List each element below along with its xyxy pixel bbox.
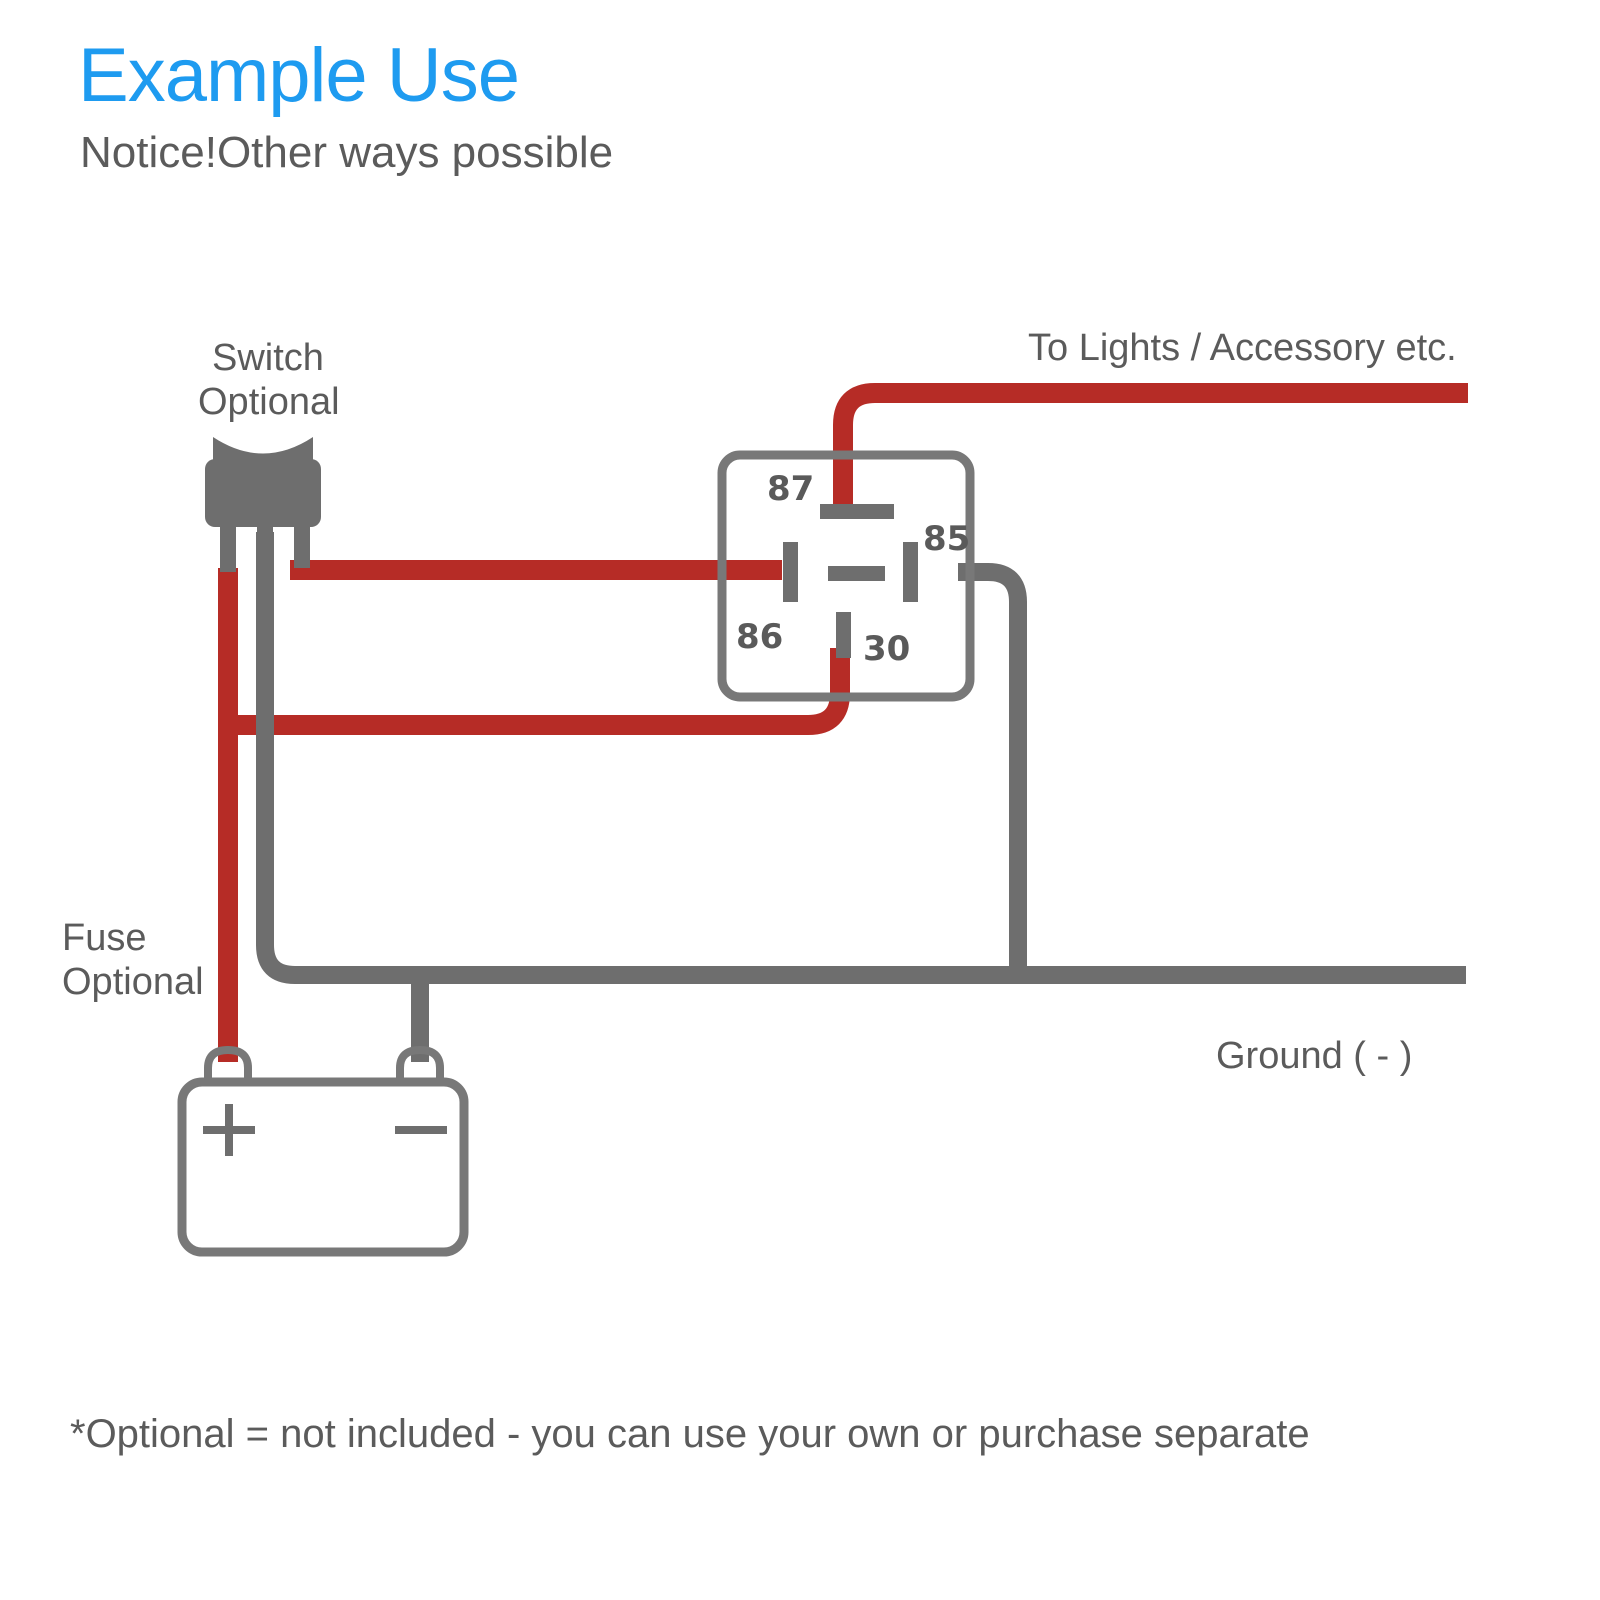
footnote-text: *Optional = not included - you can use y… <box>70 1412 1310 1457</box>
battery-minus-symbol <box>395 1126 447 1134</box>
relay-pin-label-85: 85 <box>923 519 970 559</box>
red-wire-group <box>228 393 1468 1062</box>
switch-label-line1: Switch <box>212 337 324 379</box>
ground-label: Ground ( - ) <box>1216 1035 1412 1077</box>
rocker-switch[interactable] <box>205 437 321 527</box>
lights-label: To Lights / Accessory etc. <box>1028 327 1457 369</box>
gray-wire-group <box>265 532 1466 1062</box>
battery[interactable] <box>182 1050 464 1252</box>
relay-contact-86 <box>783 542 798 602</box>
relay-contact-center <box>828 566 885 581</box>
wire-switch-center-to-ground <box>265 532 1466 975</box>
relay-wiring-diagram: 87 85 86 30 Switch Optional Fuse Optiona… <box>0 0 1600 1600</box>
relay-pin-label-30: 30 <box>863 629 910 669</box>
wire-battery-pos-to-relay-30 <box>228 648 840 725</box>
relay-contact-30 <box>836 612 851 658</box>
relay-contact-87 <box>820 504 894 519</box>
relay-contact-85 <box>903 542 918 602</box>
battery-case <box>182 1082 464 1252</box>
relay-pin-label-87: 87 <box>767 469 814 509</box>
switch-label-line2: Optional <box>198 381 340 423</box>
switch-body <box>205 459 321 527</box>
wiring-diagram-page: Example Use Notice!Other ways possible <box>0 0 1600 1600</box>
fuse-label-line2: Optional <box>62 961 204 1003</box>
fuse-label-line1: Fuse <box>62 917 146 959</box>
relay-pin-label-86: 86 <box>736 617 783 657</box>
